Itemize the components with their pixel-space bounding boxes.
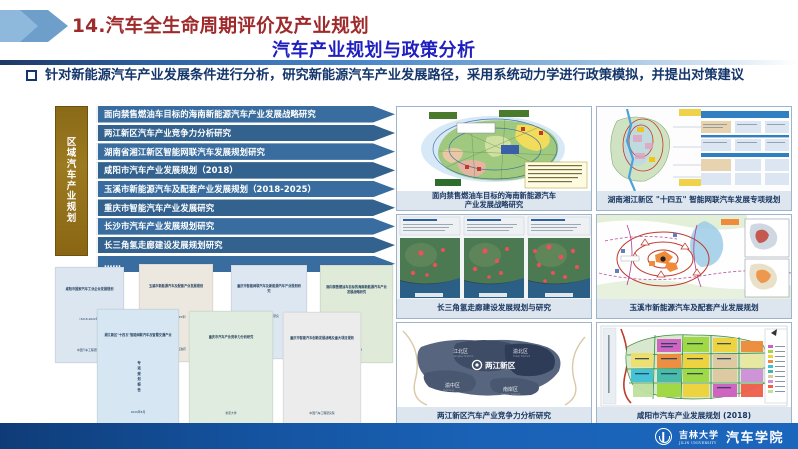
thumbnail-caption: 湖南湘江新区 "十四五" 智能网联汽车发展专项规划	[597, 191, 791, 210]
svg-text:Yubei District: Yubei District	[513, 354, 530, 358]
header-divider	[0, 60, 798, 65]
vbanner-char: 区	[67, 138, 77, 148]
vbanner-char: 产	[67, 182, 77, 192]
caption-line: 玉溪市新能源汽车及配套产业发展规划	[629, 304, 758, 313]
list-item[interactable]: 咸阳市汽车产业发展规划（2018）	[96, 162, 395, 179]
thumbnail-yangtze-hydrogen-corridor[interactable]: 长三角氢走廊建设发展规划与研究	[396, 214, 592, 319]
caption-line: 产业发展战略研究	[465, 200, 523, 209]
project-arrow-list: 面向禁售燃油车目标的海南新能源汽车产业发展战略研究 两江新区汽车产业竞争力分析研…	[96, 106, 395, 274]
caption-line: 两江新区汽车产业竞争力分析研究	[437, 412, 551, 421]
hunan-plan-image	[597, 107, 791, 193]
doc-footer: 2020年8月	[106, 410, 170, 414]
bullet-text: 针对新能源汽车产业发展条件进行分析，研究新能源汽车产业发展路径，采用系统动力学进…	[45, 66, 744, 85]
list-item-label: ……	[96, 259, 121, 269]
vbanner-char: 业	[67, 192, 77, 202]
list-item[interactable]: 面向禁售燃油车目标的海南新能源汽车产业发展战略研究	[96, 106, 395, 123]
list-item-label: 玉溪市新能源汽车及配套产业发展规划（2018-2025）	[96, 183, 316, 195]
caption-line: 湖南湘江新区 "十四五" 智能网联汽车发展专项规划	[608, 196, 781, 205]
bullet-square-icon	[26, 70, 37, 81]
yangtze-satellite-image	[397, 215, 591, 301]
hainan-map-image	[397, 107, 591, 193]
university-logo-icon	[655, 428, 672, 445]
doc-title: 重庆市智能汽车创新发展战略及重大项目规划	[289, 336, 356, 341]
caption-line: 长三角氢走廊建设发展规划与研究	[437, 304, 551, 313]
vertical-banner-regional-auto-industry-planning: 区 域 汽 车 产 业 规 划	[55, 106, 88, 256]
liangjiang-map-image: 江北区 渝北区 渝中区 南岸区 Jiangbei District Yubei …	[397, 323, 591, 409]
document-cover[interactable]: 重庆市智能汽车创新发展战略及重大项目规划 中国汽车工程研究院	[283, 312, 361, 428]
list-item[interactable]: 两江新区汽车产业竞争力分析研究	[96, 125, 395, 142]
document-cover-collage: 咸阳市国家汽车工业企业发展规划 （2018-2022年） 中国汽车工程研究院 玉…	[55, 261, 395, 429]
district-label: 南岸区	[503, 386, 518, 393]
list-item-label: 长三角氢走廊建设发展规划研究	[96, 239, 223, 251]
doc-title: 玉溪市新能源汽车及配套产业发展规划	[144, 284, 207, 289]
bullet-block: 针对新能源汽车产业发展条件进行分析，研究新能源汽车产业发展路径，采用系统动力学进…	[26, 66, 774, 85]
university-name: 吉林大学 JILIN UNIVERSITY	[679, 428, 719, 445]
vbanner-char: 规	[67, 203, 77, 213]
list-item[interactable]: 湖南省湘江新区智能网联汽车发展规划研究	[96, 143, 395, 160]
yuxi-map-image	[597, 215, 791, 301]
district-label: 渝北区	[513, 348, 528, 355]
list-item[interactable]: 重庆市智能汽车产业发展研究	[96, 199, 395, 216]
doc-vertical-text: 专项规划报告	[135, 361, 140, 393]
vbanner-char: 汽	[67, 160, 77, 170]
caption-line: 咸阳市汽车产业发展规划 (2018)	[637, 412, 751, 421]
slide-footer: 吉林大学 JILIN UNIVERSITY 汽车学院	[0, 423, 798, 449]
thumbnail-yuxi-nev-plan[interactable]: 玉溪市新能源汽车及配套产业发展规划	[596, 214, 792, 319]
page-title: 14.汽车全生命周期评价及产业规划	[72, 12, 369, 38]
document-cover[interactable]: 重庆市汽车产业竞争力分析研究 重庆大学	[189, 311, 273, 428]
list-item-label: 重庆市智能汽车产业发展研究	[96, 202, 214, 214]
thumbnail-hainan-strategy[interactable]: 面向禁售燃油车目标的海南新能源汽车 产业发展战略研究	[396, 106, 592, 211]
doc-title: 咸阳市国家汽车工业企业发展规划	[60, 287, 119, 292]
list-item[interactable]: 长三角氢走廊建设发展规划研究	[96, 237, 395, 254]
thumbnail-liangjiang-competitiveness[interactable]: 江北区 渝北区 渝中区 南岸区 Jiangbei District Yubei …	[396, 322, 592, 427]
page-subtitle: 汽车产业规划与政策分析	[272, 36, 476, 62]
vbanner-char: 车	[67, 171, 77, 181]
university-name-en: JILIN UNIVERSITY	[679, 441, 719, 445]
list-item[interactable]: 长沙市汽车产业发展规划研究	[96, 218, 395, 235]
thumbnail-caption: 玉溪市新能源汽车及配套产业发展规划	[597, 299, 791, 318]
thumbnail-caption: 面向禁售燃油车目标的海南新能源汽车 产业发展战略研究	[397, 191, 591, 210]
svg-text:Jiangbei District: Jiangbei District	[452, 354, 473, 358]
vbanner-char: 划	[67, 214, 77, 224]
district-label: 渝中区	[445, 382, 460, 389]
thumbnail-xianyang-plan-2018[interactable]: 咸阳市汽车产业发展规划 (2018)	[596, 322, 792, 427]
list-item-label: 湖南省湘江新区智能网联汽车发展规划研究	[96, 146, 265, 158]
vbanner-char: 域	[67, 149, 77, 159]
doc-title: 湘江新区"十四五"智能网联汽车及智慧交通产业	[103, 333, 173, 338]
document-cover[interactable]: 湘江新区"十四五"智能网联汽车及智慧交通产业 专项规划报告 2020年8月	[97, 309, 179, 427]
left-column: 区 域 汽 车 产 业 规 划 面向禁售燃油车目标的海南新能源汽车产业发展战略研…	[55, 106, 395, 426]
doc-title: 重庆市汽车产业竞争力分析研究	[195, 335, 267, 340]
list-item-label: 两江新区汽车产业竞争力分析研究	[96, 127, 231, 139]
map-primary-label: 两江新区	[485, 360, 516, 370]
list-item-label: 长沙市汽车产业发展规划研究	[96, 220, 214, 232]
xianyang-zoning-image	[597, 323, 791, 409]
list-item-label: 面向禁售燃油车目标的海南新能源汽车产业发展战略研究	[96, 108, 316, 120]
college-name: 汽车学院	[726, 427, 784, 446]
header-arrow-decoration	[0, 10, 70, 42]
doc-footer: 重庆大学	[198, 411, 264, 415]
slide-header: 14.汽车全生命周期评价及产业规划 汽车产业规划与政策分析	[0, 0, 798, 62]
svg-text:Nan'an District: Nan'an District	[501, 392, 520, 396]
university-name-cn: 吉林大学	[679, 431, 719, 441]
list-item[interactable]: 玉溪市新能源汽车及配套产业发展规划（2018-2025）	[96, 181, 395, 198]
doc-footer: 中国汽车工程研究院	[292, 411, 353, 415]
doc-title: 面向禁售燃油车目标的海南新能源汽车产业发展战略研究	[325, 285, 388, 295]
thumbnail-grid: 面向禁售燃油车目标的海南新能源汽车 产业发展战略研究	[396, 106, 792, 426]
thumbnail-caption: 长三角氢走廊建设发展规划与研究	[397, 299, 591, 318]
thumbnail-hunan-xiangjiang-plan[interactable]: 湖南湘江新区 "十四五" 智能网联汽车发展专项规划	[596, 106, 792, 211]
list-item-label: 咸阳市汽车产业发展规划（2018）	[96, 164, 238, 176]
doc-title: 重庆市智能网联汽车及新能源汽车产业规划研究	[236, 284, 301, 294]
svg-text:Yuzhong: Yuzhong	[443, 388, 454, 392]
district-label: 江北区	[453, 348, 468, 355]
